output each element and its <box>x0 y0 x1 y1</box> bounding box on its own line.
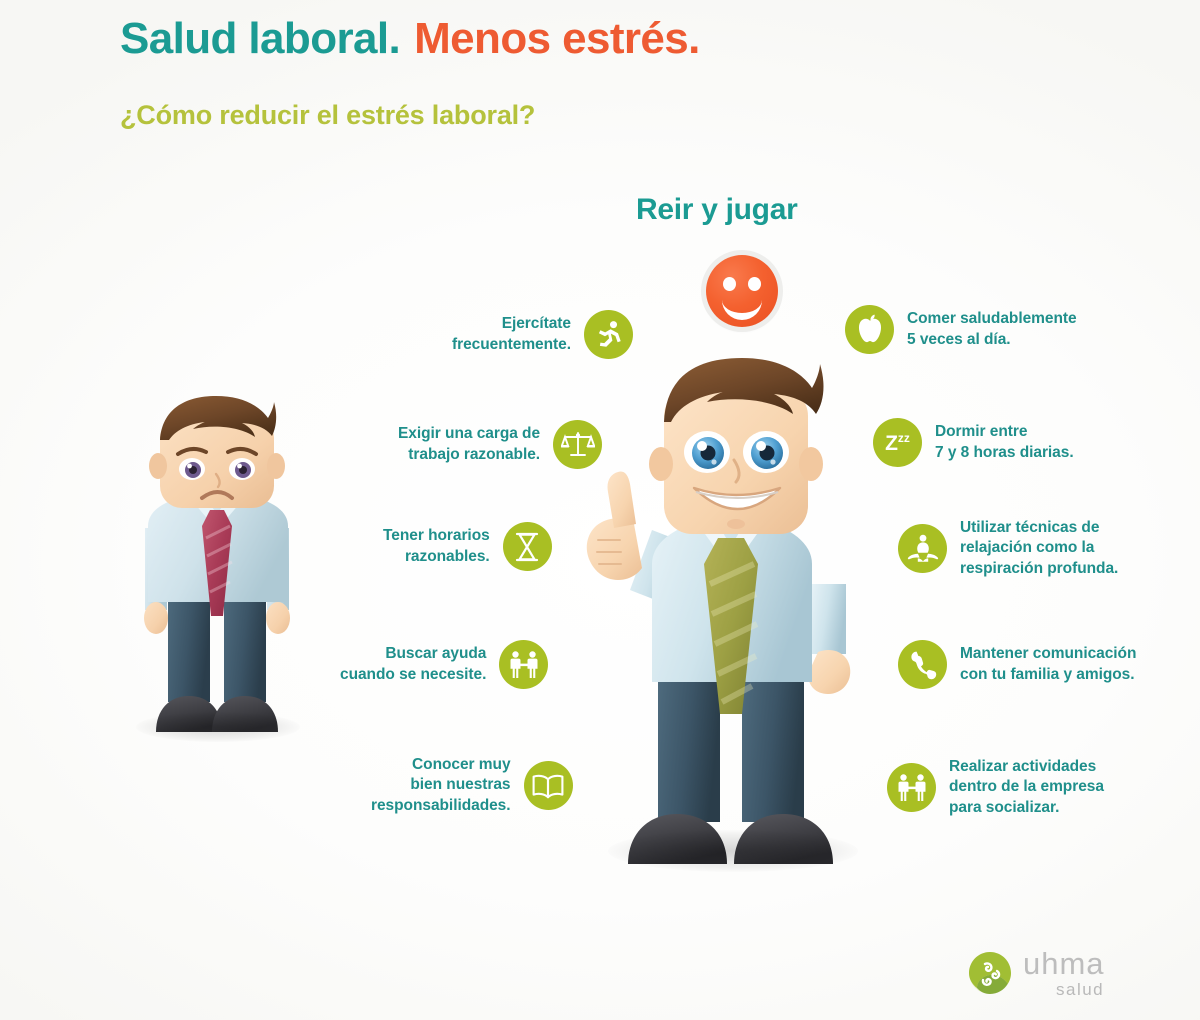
happy-relaxed-office-worker-thumbs-up <box>566 352 896 882</box>
tip-left-schedule-label: Tener horarios razonables. <box>383 526 490 567</box>
smiley-eye-right <box>748 277 761 291</box>
smiley-face-icon <box>706 255 778 327</box>
phone-handset-icon <box>898 640 947 689</box>
happy-character-shadow <box>608 830 858 872</box>
tip-right-relaxation[interactable]: Utilizar técnicas de relajación como la … <box>898 518 1118 579</box>
logo-brand-text: uhma <box>1023 948 1105 979</box>
tip-right-communication[interactable]: Mantener comunicación con tu familia y a… <box>898 640 1136 689</box>
tip-left-seek-help[interactable]: Buscar ayuda cuando se necesite. <box>340 640 548 689</box>
tip-right-communication-label: Mantener comunicación con tu familia y a… <box>960 644 1136 685</box>
page-title: Salud laboral.Menos estrés. <box>120 14 700 64</box>
tip-right-eat-healthy[interactable]: Comer saludablemente 5 veces al día. <box>845 305 1077 354</box>
tip-right-sleep-label: Dormir entre 7 y 8 horas diarias. <box>935 422 1074 463</box>
tip-right-sleep[interactable]: Zzz Dormir entre 7 y 8 horas diarias. <box>873 418 1074 467</box>
tip-left-responsibilities-label: Conocer muy bien nuestras responsabilida… <box>371 755 511 816</box>
page-title-part1: Salud laboral. <box>120 14 400 63</box>
tip-left-responsibilities[interactable]: Conocer muy bien nuestras responsabilida… <box>371 755 573 816</box>
sad-character-shadow <box>136 712 300 742</box>
tip-right-socialize[interactable]: Realizar actividades dentro de la empres… <box>887 757 1104 818</box>
uhma-salud-logo[interactable]: uhma salud <box>968 948 1105 998</box>
apple-icon <box>845 305 894 354</box>
tip-right-socialize-label: Realizar actividades dentro de la empres… <box>949 757 1104 818</box>
infographic-canvas: Salud laboral.Menos estrés. ¿Cómo reduci… <box>0 0 1200 1020</box>
meditation-yoga-icon <box>898 524 947 573</box>
logo-tagline-text: salud <box>1056 981 1105 998</box>
tip-right-relaxation-label: Utilizar técnicas de relajación como la … <box>960 518 1118 579</box>
tip-left-exercise-label: Ejercítate frecuentemente. <box>452 314 571 355</box>
hourglass-icon <box>503 522 552 571</box>
uhma-spiral-logo-icon <box>968 951 1012 995</box>
page-title-part2: Menos estrés. <box>414 14 700 63</box>
tip-right-eat-healthy-label: Comer saludablemente 5 veces al día. <box>907 309 1077 350</box>
handshake-help-icon <box>499 640 548 689</box>
tip-left-schedule[interactable]: Tener horarios razonables. <box>383 522 552 571</box>
section-heading: Reir y jugar <box>636 193 797 227</box>
tip-left-workload-label: Exigir una carga de trabajo razonable. <box>398 424 540 465</box>
smiley-eye-left <box>723 277 736 291</box>
tip-left-seek-help-label: Buscar ayuda cuando se necesite. <box>340 644 486 685</box>
page-subtitle: ¿Cómo reducir el estrés laboral? <box>120 100 535 131</box>
sad-stressed-office-worker <box>118 390 318 750</box>
smiley-mouth <box>722 291 762 320</box>
